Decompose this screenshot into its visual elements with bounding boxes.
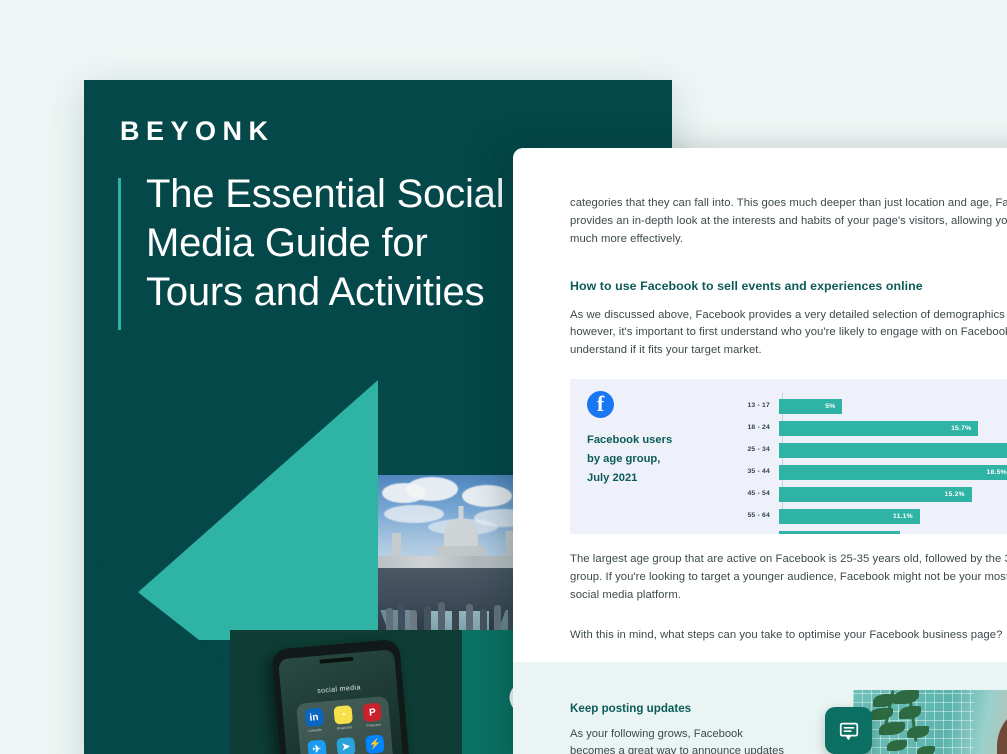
- chart-legend-block: Facebook users by age group, July 2021: [587, 391, 712, 488]
- crowd-person: [494, 605, 501, 630]
- crowd-person: [424, 606, 431, 630]
- cloud: [384, 505, 444, 523]
- crowd-person: [398, 604, 405, 630]
- title-accent-rule: [118, 178, 121, 330]
- phone-notch: [319, 657, 353, 664]
- chart-bar: 15.2%: [779, 487, 972, 502]
- app-tile: ◔ Snapchat: [333, 705, 353, 732]
- crowd-person: [438, 602, 445, 630]
- cover-title: The Essential Social Media Guide for Tou…: [146, 170, 566, 318]
- pinterest-icon: P: [363, 703, 383, 723]
- chart-bar: 5%: [779, 399, 842, 414]
- cover-title-line-3: Tours and Activities: [146, 268, 566, 317]
- chart-title: Facebook users by age group, July 2021: [587, 431, 712, 488]
- heading-keep-posting-updates: Keep posting updates: [570, 702, 691, 715]
- brand-logo-beyonk: BEYONK: [120, 118, 275, 145]
- chart-bar: 15.7%: [779, 421, 978, 436]
- plant-leaf: [917, 746, 935, 754]
- paragraph-keep-posting-updates: As your following grows, Facebook become…: [570, 726, 788, 754]
- facebook-logo-icon: [587, 391, 614, 418]
- paragraph-top: categories that they can fall into. This…: [570, 195, 1007, 249]
- crowd-person: [480, 609, 487, 630]
- chart-bar-value: 15.2%: [945, 491, 972, 498]
- chart-category-label: 45 - 54: [740, 491, 778, 498]
- crowd-person: [410, 610, 417, 630]
- phone-app-folder: in LinkedIn ◔ Snapchat P Pinterest ✈: [296, 696, 397, 754]
- phone-body: social media in LinkedIn ◔ Snapchat P Pi: [271, 639, 412, 754]
- chart-bar-row: 25 - 34 24.5%: [740, 443, 1007, 458]
- doc-top-text-block: categories that they can fall into. This…: [570, 195, 1007, 360]
- chart-category-label: 18 - 24: [740, 425, 778, 432]
- crowd-person: [452, 608, 459, 630]
- app-tile: ✈ Twitter: [307, 740, 327, 754]
- telegram-icon: ➤: [336, 737, 356, 754]
- cloud: [406, 477, 458, 501]
- chart-bar-value: 5%: [825, 403, 842, 410]
- crowd-person: [466, 604, 473, 630]
- chart-bar: 11.1%: [779, 509, 920, 524]
- app-tile: ⚡ Messenger: [365, 735, 385, 754]
- app-tile: P Pinterest: [363, 703, 383, 730]
- chart-bar-row: 13 - 17 5%: [740, 399, 1007, 414]
- snapchat-icon: ◔: [333, 705, 353, 725]
- chart-bar-row: 45 - 54 15.2%: [740, 487, 1007, 502]
- paragraph-after-heading: As we discussed above, Facebook provides…: [570, 307, 1007, 361]
- chart-bar: 24.5%: [779, 443, 1007, 458]
- chart-bar: 18.5%: [779, 465, 1007, 480]
- chart-plot-area: 13 - 17 5% 18 - 24 15.7% 25 - 34 24.5%: [740, 391, 1007, 524]
- phone-screen: social media in LinkedIn ◔ Snapchat P Pi: [278, 649, 407, 754]
- twitter-icon: ✈: [307, 740, 327, 754]
- heading-facebook-sell: How to use Facebook to sell events and e…: [570, 279, 1007, 293]
- chart-bar-row: 35 - 44 18.5%: [740, 465, 1007, 480]
- chart-title-line-1: Facebook users: [587, 431, 712, 450]
- chart-category-label: 55 - 64: [740, 513, 778, 520]
- messenger-icon: ⚡: [365, 735, 385, 754]
- chart-bar-value: 11.1%: [893, 513, 920, 520]
- chart-bar-value: 15.7%: [951, 425, 978, 432]
- photo-phone-social-apps: social media in LinkedIn ◔ Snapchat P Pi: [230, 630, 462, 754]
- chat-bubble-icon: [838, 720, 860, 742]
- chat-widget-button[interactable]: [825, 707, 872, 754]
- screenshot-stage: BEYONK The Essential Social Media Guide …: [0, 0, 1007, 754]
- chart-bar-value: 18.5%: [987, 469, 1007, 476]
- chart-bar: 9.5%: [779, 531, 900, 534]
- chart-category-label: 25 - 34: [740, 447, 778, 454]
- chart-title-line-3: July 2021: [587, 469, 712, 488]
- crowd-person: [386, 608, 393, 630]
- facebook-age-chart-panel: Facebook users by age group, July 2021 1…: [570, 379, 1007, 534]
- app-label: Pinterest: [364, 722, 382, 728]
- cover-title-line-1: The Essential Social: [146, 170, 566, 219]
- chart-bar-row: 18 - 24 15.7%: [740, 421, 1007, 436]
- chart-title-line-2: by age group,: [587, 450, 712, 469]
- chart-category-label: 13 - 17: [740, 403, 778, 410]
- ebook-inner-page-card: categories that they can fall into. This…: [513, 148, 1007, 754]
- paragraph-question: With this in mind, what steps can you ta…: [570, 627, 1007, 645]
- app-label: LinkedIn: [306, 728, 324, 734]
- photo-woman-at-desk: [853, 690, 1007, 754]
- doc-lower-section: Keep posting updates As your following g…: [513, 662, 1007, 754]
- app-label: Snapchat: [335, 725, 353, 731]
- chart-bar-row: 65+ 9.5%: [740, 531, 1007, 534]
- app-tile: ➤ Telegram: [336, 737, 356, 754]
- app-tile: in LinkedIn: [304, 708, 324, 735]
- linkedin-icon: in: [304, 708, 324, 728]
- cover-title-line-2: Media Guide for: [146, 219, 566, 268]
- cloud: [462, 485, 512, 507]
- chart-bar-row: 55 - 64 11.1%: [740, 509, 1007, 524]
- paragraph-after-chart: The largest age group that are active on…: [570, 551, 1007, 605]
- chart-category-label: 35 - 44: [740, 469, 778, 476]
- doc-after-chart-text-block: The largest age group that are active on…: [570, 551, 1007, 644]
